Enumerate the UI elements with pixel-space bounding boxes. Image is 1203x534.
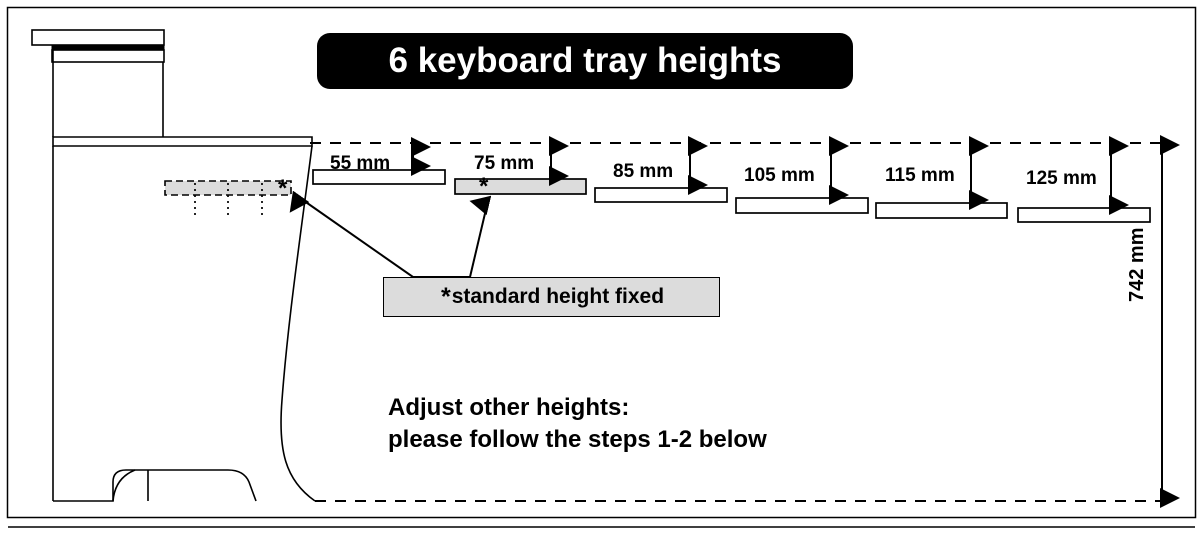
- tray-bars: *: [313, 170, 1150, 222]
- tray-label-115: 115 mm: [885, 165, 955, 187]
- tray-label-55: 55 mm: [330, 153, 390, 175]
- callout-content: *standard height fixed: [384, 278, 721, 316]
- tray-bar-125: [1018, 208, 1150, 222]
- tray-label-85: 85 mm: [613, 161, 673, 183]
- standard-height-callout: *standard height fixed: [383, 277, 720, 317]
- overall-height-label: 742 mm: [1126, 228, 1149, 303]
- hutch-body: [52, 50, 164, 62]
- instruction-line-2: please follow the steps 1-2 below: [388, 424, 767, 456]
- desk-foot: [53, 470, 256, 501]
- callout-asterisk-marker: *: [441, 290, 451, 305]
- instructions-block: Adjust other heights: please follow the …: [388, 392, 767, 456]
- tray-bar-75: [455, 179, 586, 194]
- desk-drawing: *: [32, 30, 315, 501]
- leader-to-75mm-tray: [470, 205, 487, 277]
- hutch-top-panel: [32, 30, 164, 45]
- page-title: 6 keyboard tray heights: [317, 33, 853, 89]
- desk-worksurface: [53, 137, 312, 146]
- desk-tray-asterisk: *: [278, 175, 288, 202]
- tray-bar-105: [736, 198, 868, 213]
- leader-to-desk-tray: [300, 198, 470, 277]
- tray-bar-85: [595, 188, 727, 202]
- diagram-canvas: * *: [0, 0, 1203, 534]
- tray-bar-115: [876, 203, 1007, 218]
- tray-label-125: 125 mm: [1026, 168, 1097, 190]
- tray-label-105: 105 mm: [744, 165, 815, 187]
- tray-label-75: 75 mm: [474, 153, 534, 175]
- title-banner: 6 keyboard tray heights: [317, 33, 853, 89]
- tray-75-asterisk: *: [479, 173, 489, 200]
- callout-label: standard height fixed: [452, 285, 664, 309]
- desk-foot-arc: [113, 470, 135, 501]
- instruction-line-1: Adjust other heights:: [388, 392, 767, 424]
- callout-leader-lines: [300, 198, 487, 277]
